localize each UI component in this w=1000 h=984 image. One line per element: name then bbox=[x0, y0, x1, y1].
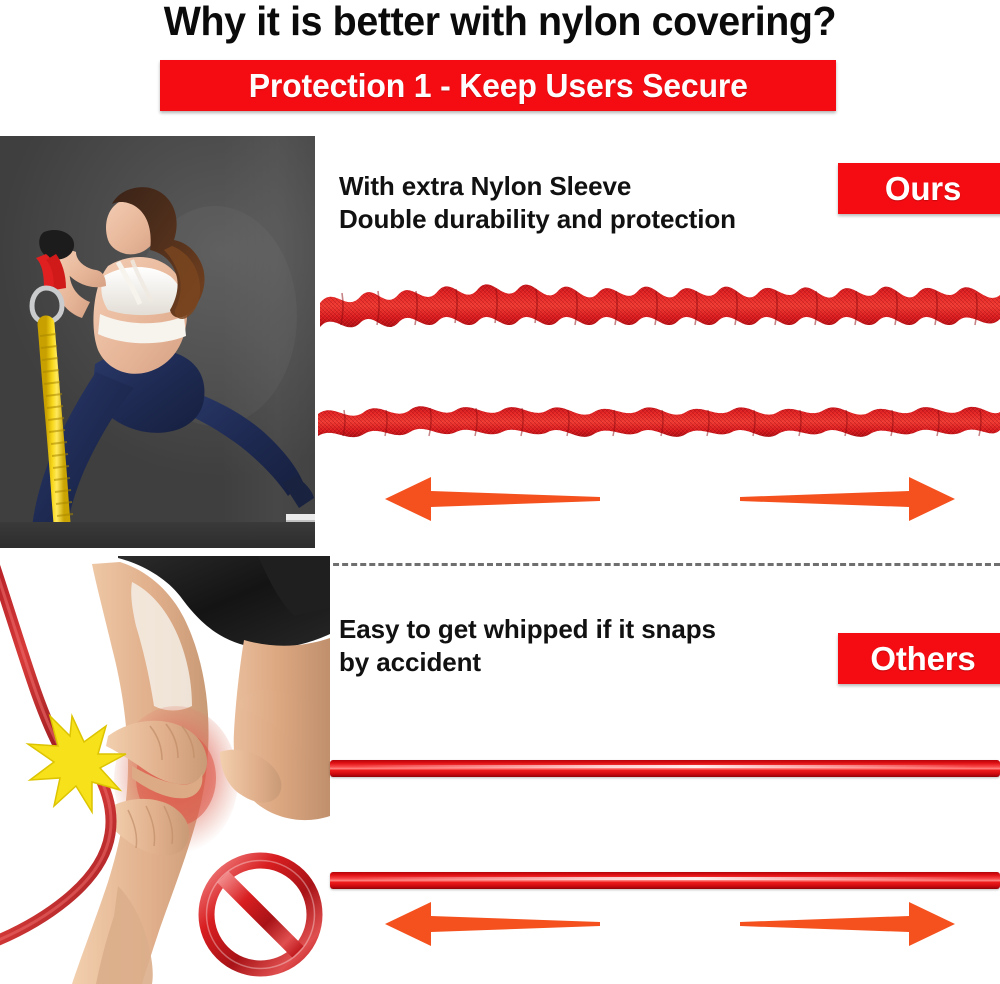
ours-photo bbox=[0, 136, 315, 548]
ours-description-line2: Double durability and protection bbox=[339, 203, 736, 236]
ours-badge: Ours bbox=[838, 163, 1000, 214]
ours-badge-label: Ours bbox=[885, 170, 961, 208]
stretch-arrow-left bbox=[385, 898, 600, 950]
ours-description-line1: With extra Nylon Sleeve bbox=[339, 170, 736, 203]
ours-stretch-arrows bbox=[385, 473, 955, 525]
stretch-arrow-right bbox=[740, 898, 955, 950]
ours-description: With extra Nylon Sleeve Double durabilit… bbox=[339, 170, 736, 236]
protection-banner: Protection 1 - Keep Users Secure bbox=[160, 60, 836, 111]
stretch-arrow-right bbox=[740, 473, 955, 525]
others-description-line1: Easy to get whipped if it snaps bbox=[339, 613, 716, 646]
section-divider bbox=[324, 563, 1000, 566]
nylon-sleeve-band-lower bbox=[318, 386, 1000, 452]
prohibition-icon bbox=[197, 851, 324, 978]
page-title: Why it is better with nylon covering? bbox=[20, 0, 980, 45]
bare-band-upper bbox=[330, 760, 1000, 777]
others-description: Easy to get whipped if it snaps by accid… bbox=[339, 613, 716, 679]
woman-exercising-illustration bbox=[0, 136, 315, 548]
others-stretch-arrows bbox=[385, 898, 955, 950]
others-description-line2: by accident bbox=[339, 646, 716, 679]
stretch-arrow-left bbox=[385, 473, 600, 525]
protection-banner-label: Protection 1 - Keep Users Secure bbox=[248, 67, 747, 105]
others-badge: Others bbox=[838, 633, 1000, 684]
gym-floor bbox=[0, 522, 315, 548]
bare-band-lower bbox=[330, 872, 1000, 889]
others-badge-label: Others bbox=[870, 640, 975, 678]
infographic-canvas: Why it is better with nylon covering? Pr… bbox=[0, 0, 1000, 984]
nylon-sleeve-band-upper bbox=[320, 263, 1000, 341]
